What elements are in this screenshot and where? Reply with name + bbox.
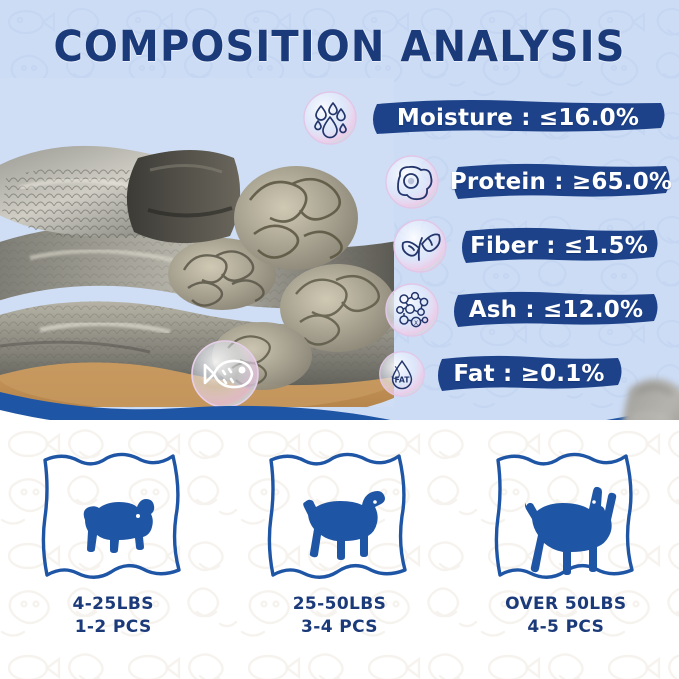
medium-dog-icon bbox=[304, 491, 386, 560]
nutrition-text-moisture: Moisture : ≤16.0% bbox=[368, 98, 668, 138]
size-label-medium: 25-50LBS 3-4 PCS bbox=[293, 593, 387, 639]
water-droplets-icon bbox=[302, 90, 358, 146]
svg-text:X: X bbox=[414, 320, 418, 327]
nutrition-banner-protein: Protein : ≥65.0% bbox=[450, 162, 672, 202]
page-title: COMPOSITION ANALYSIS bbox=[24, 22, 655, 72]
size-card-medium: 25-50LBS 3-4 PCS bbox=[226, 444, 452, 639]
nutrition-text-protein: Protein : ≥65.0% bbox=[450, 162, 672, 202]
nutrition-text-fiber: Fiber : ≤1.5% bbox=[458, 226, 660, 266]
size-guide-list: 4-25LBS 1-2 PCS 25 bbox=[0, 444, 679, 639]
size-pieces-large: 4-5 PCS bbox=[505, 616, 626, 639]
large-dog-icon bbox=[525, 487, 616, 575]
size-guide-panel: 4-25LBS 1-2 PCS 25 bbox=[0, 420, 679, 679]
size-label-small: 4-25LBS 1-2 PCS bbox=[72, 593, 153, 639]
size-box-large bbox=[486, 444, 646, 579]
leaf-sprout-icon bbox=[392, 218, 448, 274]
nutrition-row-moisture: Moisture : ≤16.0% bbox=[296, 86, 679, 150]
size-pieces-medium: 3-4 PCS bbox=[293, 616, 387, 639]
size-card-large: OVER 50LBS 4-5 PCS bbox=[453, 444, 679, 639]
nutrition-row-fiber: Fiber : ≤1.5% bbox=[296, 214, 679, 278]
small-dog-icon bbox=[84, 499, 155, 553]
size-card-small: 4-25LBS 1-2 PCS bbox=[0, 444, 226, 639]
top-panel: COMPOSITION ANALYSIS bbox=[0, 0, 679, 432]
size-weight-medium: 25-50LBS bbox=[293, 594, 387, 614]
nutrition-banner-moisture: Moisture : ≤16.0% bbox=[368, 98, 668, 138]
nutrition-text-ash: Ash : ≤12.0% bbox=[450, 290, 662, 330]
fried-egg-icon bbox=[384, 154, 440, 210]
size-weight-small: 4-25LBS bbox=[72, 594, 153, 614]
size-label-large: OVER 50LBS 4-5 PCS bbox=[505, 593, 626, 639]
nutrition-banner-fiber: Fiber : ≤1.5% bbox=[458, 226, 660, 266]
molecule-icon: X bbox=[384, 282, 440, 338]
infographic-page: COMPOSITION ANALYSIS bbox=[0, 0, 679, 679]
nutrition-row-protein: Protein : ≥65.0% bbox=[296, 150, 679, 214]
size-pieces-small: 1-2 PCS bbox=[72, 616, 153, 639]
size-box-medium bbox=[259, 444, 419, 579]
size-box-small bbox=[33, 444, 193, 579]
nutrition-row-ash: X Ash : ≤12.0% bbox=[296, 278, 679, 342]
size-weight-large: OVER 50LBS bbox=[505, 594, 626, 614]
nutrition-banner-ash: Ash : ≤12.0% bbox=[450, 290, 662, 330]
